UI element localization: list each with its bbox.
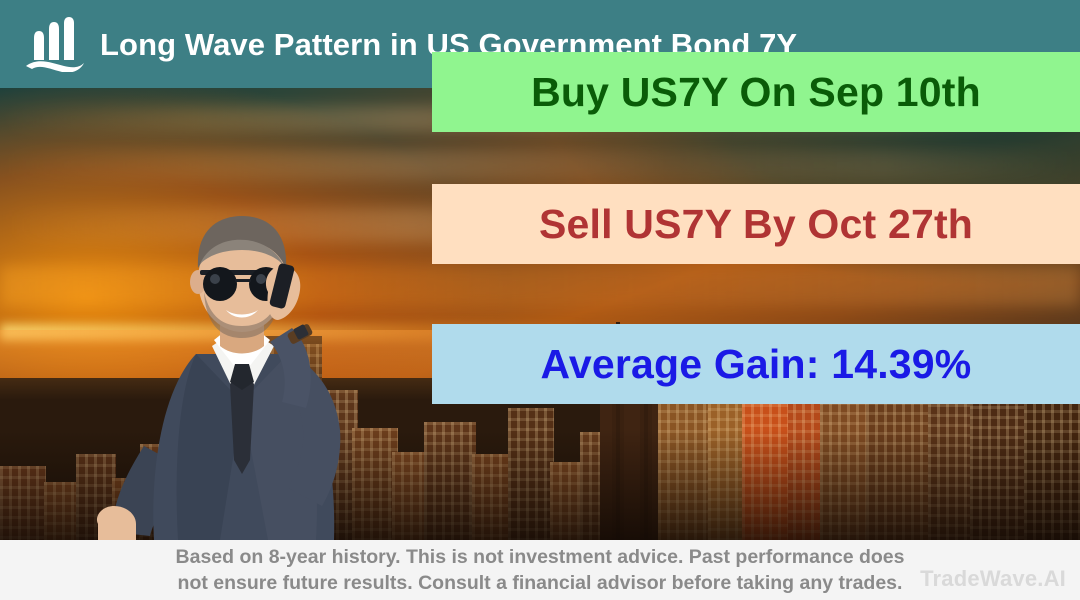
banner-buy: Buy US7Y On Sep 10th <box>432 52 1080 132</box>
disclaimer-footer: Based on 8-year history. This is not inv… <box>0 540 1080 600</box>
hero-image <box>0 88 1080 540</box>
banner-sell-text: Sell US7Y By Oct 27th <box>539 204 973 245</box>
banner-average-gain: Average Gain: 14.39% <box>432 324 1080 404</box>
banner-buy-text: Buy US7Y On Sep 10th <box>531 72 981 113</box>
businessman-on-phone-figure <box>92 140 392 540</box>
disclaimer-line-2: not ensure future results. Consult a fin… <box>178 570 903 596</box>
banner-average-gain-text: Average Gain: 14.39% <box>541 344 972 385</box>
banner-sell: Sell US7Y By Oct 27th <box>432 184 1080 264</box>
promo-card: Long Wave Pattern in US Government Bond … <box>0 0 1080 600</box>
bar-chart-wave-logo-icon <box>22 16 88 72</box>
brand-watermark: TradeWave.AI <box>920 566 1066 592</box>
disclaimer-line-1: Based on 8-year history. This is not inv… <box>176 544 905 570</box>
